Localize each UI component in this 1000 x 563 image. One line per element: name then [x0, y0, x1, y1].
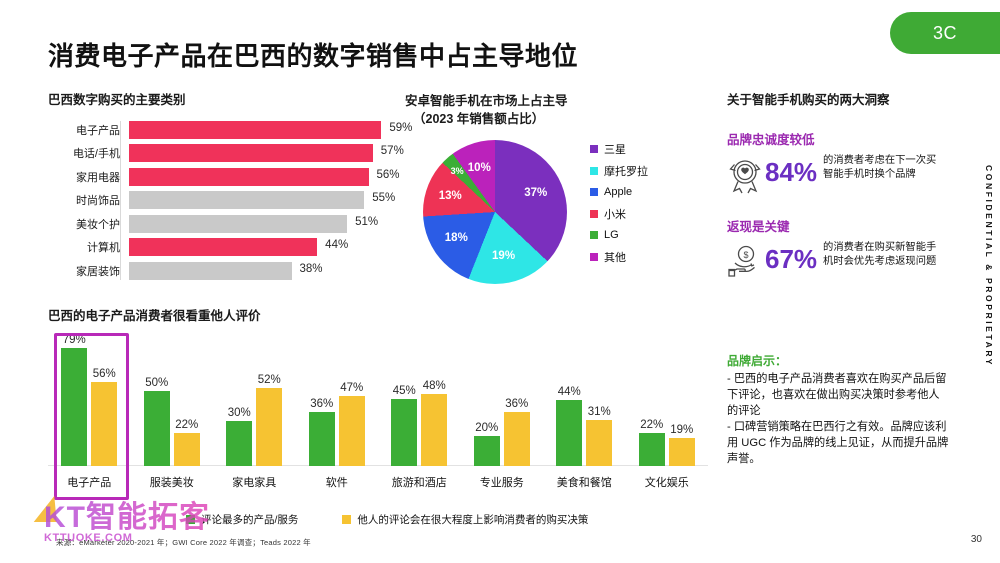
cashback-hand-coin-icon: $ [727, 241, 765, 283]
bar: 44% [556, 400, 582, 466]
insight-cashback: 返现是关键 $ 67% 的消费者在购买新智能手机时会优先考虑返现问题 [727, 216, 942, 283]
table-row: 计算机44% [48, 238, 398, 256]
bar-value-label: 51% [355, 216, 378, 228]
legend-swatch [590, 167, 598, 175]
bottom-chart-legend: 评论最多的产品/服务他人的评论会在很大程度上影响消费者的购买决策 [186, 512, 588, 527]
bar-category-label: 电话/手机 [48, 145, 129, 161]
bar-category-label: 计算机 [48, 239, 129, 255]
bar-group-bars: 20%36% [461, 339, 544, 466]
bar: 22% [174, 433, 200, 466]
bar-value-label: 55% [372, 192, 395, 204]
bar-category-label: 时尚饰品 [48, 192, 129, 208]
table-row: 美妆个护51% [48, 215, 398, 233]
bar-group: 20%36%专业服务 [461, 339, 544, 494]
bar: 45% [391, 399, 417, 466]
bar-value-label: 50% [145, 377, 168, 391]
bar-category-label: 专业服务 [461, 474, 544, 490]
bar-value-label: 22% [175, 419, 198, 433]
legend-item: 评论最多的产品/服务 [186, 512, 298, 527]
pie-slice-label: 19% [492, 250, 515, 262]
brand-implications: 品牌启示： - 巴西的电子产品消费者喜欢在购买产品后留下评论，也喜欢在做出购买决… [727, 352, 949, 467]
bar-group: 36%47%软件 [296, 339, 379, 494]
bar-track: 55% [129, 191, 398, 209]
bar-group-bars: 44%31% [543, 339, 626, 466]
bottom-chart-plot: 79%56%电子产品50%22%服装美妆30%52%家电家具36%47%软件45… [48, 339, 708, 494]
bar-category-label: 家用电器 [48, 169, 129, 185]
legend-item: 其他 [590, 246, 648, 268]
bar-group: 45%48%旅游和酒店 [378, 339, 461, 494]
bar: 36% [504, 412, 530, 466]
pie-slice-label: 37% [524, 187, 547, 199]
bar-value-label: 22% [640, 419, 663, 433]
pie-legend: 三星摩托罗拉Apple小米LG其他 [590, 138, 648, 267]
bar-value-label: 30% [228, 407, 251, 421]
legend-label: Apple [604, 186, 632, 198]
left-chart-plot: 电子产品59%电话/手机57%家用电器56%时尚饰品55%美妆个护51%计算机4… [48, 121, 398, 280]
bar-fill [129, 262, 292, 280]
bar-group: 44%31%美食和餐馆 [543, 339, 626, 494]
svg-text:$: $ [743, 250, 748, 260]
legend-swatch [590, 210, 598, 218]
bar-category-label: 软件 [296, 474, 379, 490]
insight-percent: 84% [765, 154, 817, 185]
legend-label: 他人的评论会在很大程度上影响消费者的购买决策 [357, 512, 588, 527]
bar-group-bars: 22%19% [626, 339, 709, 466]
legend-label: LG [604, 229, 619, 241]
legend-swatch [342, 515, 351, 524]
bar-category-label: 旅游和酒店 [378, 474, 461, 490]
page-number: 30 [971, 534, 982, 545]
bar: 48% [421, 394, 447, 466]
bar: 19% [669, 438, 695, 466]
bar-group: 50%22%服装美妆 [131, 339, 214, 494]
table-row: 电子产品59% [48, 121, 398, 139]
pie-disc [423, 140, 567, 284]
table-row: 电话/手机57% [48, 144, 398, 162]
slide: 3C 消费电子产品在巴西的数字销售中占主导地位 巴西数字购买的主要类别 电子产品… [0, 0, 1000, 563]
insights-title: 关于智能手机购买的两大洞察 [727, 92, 942, 109]
bar-value-label: 20% [475, 422, 498, 436]
bar: 22% [639, 433, 665, 466]
insight-text: 的消费者在购买新智能手机时会优先考虑返现问题 [823, 241, 942, 269]
page-title: 消费电子产品在巴西的数字销售中占主导地位 [48, 36, 708, 73]
legend-item: 小米 [590, 203, 648, 225]
bar-fill [129, 238, 317, 256]
bar-group-bars: 45%48% [378, 339, 461, 466]
bar-value-label: 38% [300, 263, 323, 275]
bar-value-label: 31% [588, 406, 611, 420]
bar-track: 44% [129, 238, 398, 256]
bar: 31% [586, 420, 612, 466]
bar-value-label: 44% [558, 386, 581, 400]
legend-item: 摩托罗拉 [590, 160, 648, 182]
confidential-notice: CONFIDENTIAL & PROPRIETARY [984, 165, 994, 367]
bar-group-bars: 30%52% [213, 339, 296, 466]
pie-plot: 37%19%18%13%3%10% 三星摩托罗拉Apple小米LG其他 [405, 138, 705, 288]
bar-group: 22%19%文化娱乐 [626, 339, 709, 494]
pie-slice-label: 10% [468, 162, 491, 174]
badge-label: 3C [933, 23, 957, 44]
left-chart-title: 巴西数字购买的主要类别 [48, 92, 398, 109]
legend-swatch [590, 145, 598, 153]
bar: 36% [309, 412, 335, 466]
legend-swatch [186, 515, 195, 524]
bottom-chart-title: 巴西的电子产品消费者很看重他人评价 [48, 308, 708, 325]
bar: 20% [474, 436, 500, 466]
insight-percent: 67% [765, 241, 817, 272]
bar-fill [129, 191, 364, 209]
legend-label: 评论最多的产品/服务 [201, 512, 298, 527]
insight-heading: 返现是关键 [727, 216, 942, 235]
bar-track: 51% [129, 215, 398, 233]
category-badge: 3C [890, 12, 1000, 54]
insight-brand-loyalty: 品牌忠诚度较低 84% 的消费者考虑在下一次买智能手机时换个品牌 [727, 129, 942, 200]
bar-value-label: 57% [381, 145, 404, 157]
highlight-box [54, 333, 129, 500]
bar-fill [129, 215, 347, 233]
table-row: 家用电器56% [48, 168, 398, 186]
bar-value-label: 47% [340, 382, 363, 396]
bar-fill [129, 168, 369, 186]
pie-slice-label: 3% [451, 166, 464, 176]
bar-value-label: 36% [310, 398, 333, 412]
bar-track: 38% [129, 262, 398, 280]
bar: 47% [339, 396, 365, 466]
bar-track: 56% [129, 168, 398, 186]
bar-value-label: 45% [393, 385, 416, 399]
pie-slice-label: 13% [439, 190, 462, 202]
table-row: 家居装饰38% [48, 262, 398, 280]
legend-label: 其他 [604, 249, 626, 265]
bar-value-label: 19% [670, 424, 693, 438]
bar-track: 59% [129, 121, 398, 139]
bar-group-bars: 50%22% [131, 339, 214, 466]
legend-item: Apple [590, 181, 648, 203]
bar-value-label: 52% [258, 374, 281, 388]
insight-heading: 品牌忠诚度较低 [727, 129, 942, 148]
left-chart-axis [120, 121, 121, 280]
source-note: 来源：eMarketer 2020-2021 年；GWI Core 2022 年… [56, 537, 311, 548]
bar: 30% [226, 421, 252, 466]
insights-section: 关于智能手机购买的两大洞察 品牌忠诚度较低 84% 的消费者考虑在下 [727, 92, 942, 299]
legend-label: 摩托罗拉 [604, 163, 648, 179]
bar-category-label: 文化娱乐 [626, 474, 709, 490]
legend-swatch [590, 231, 598, 239]
bar-fill [129, 121, 381, 139]
bar-category-label: 美妆个护 [48, 216, 129, 232]
bar-value-label: 44% [325, 239, 348, 251]
left-bar-chart: 巴西数字购买的主要类别 电子产品59%电话/手机57%家用电器56%时尚饰品55… [48, 92, 398, 285]
legend-swatch [590, 188, 598, 196]
bar-group: 30%52%家电家具 [213, 339, 296, 494]
pie-chart-section: 安卓智能手机在市场上占主导 （2023 年销售额占比） 37%19%18%13%… [405, 92, 705, 288]
bar-category-label: 美食和餐馆 [543, 474, 626, 490]
bottom-bar-chart: 巴西的电子产品消费者很看重他人评价 79%56%电子产品50%22%服装美妆30… [48, 308, 708, 494]
bar-track: 57% [129, 144, 398, 162]
bar-value-label: 56% [377, 169, 400, 181]
legend-item: 他人的评论会在很大程度上影响消费者的购买决策 [342, 512, 588, 527]
legend-item: 三星 [590, 138, 648, 160]
award-ribbon-icon [727, 154, 765, 200]
pie-chart-title: 安卓智能手机在市场上占主导 （2023 年销售额占比） [405, 92, 705, 128]
pie-slice-label: 18% [445, 232, 468, 244]
legend-label: 三星 [604, 141, 626, 157]
table-row: 时尚饰品55% [48, 191, 398, 209]
bar-value-label: 36% [505, 398, 528, 412]
bar-category-label: 服装美妆 [131, 474, 214, 490]
bar-group-bars: 36%47% [296, 339, 379, 466]
legend-swatch [590, 253, 598, 261]
legend-label: 小米 [604, 206, 626, 222]
implications-text: - 巴西的电子产品消费者喜欢在购买产品后留下评论，也喜欢在做出购买决策时参考他人… [727, 371, 949, 467]
bar: 50% [144, 391, 170, 466]
bar: 52% [256, 388, 282, 466]
bar-value-label: 48% [423, 380, 446, 394]
bar-fill [129, 144, 373, 162]
implications-heading: 品牌启示： [727, 352, 949, 369]
watermark-mark-icon [34, 496, 62, 522]
bar-category-label: 电子产品 [48, 122, 129, 138]
bar-category-label: 家电家具 [213, 474, 296, 490]
bar-category-label: 家居装饰 [48, 263, 129, 279]
legend-item: LG [590, 224, 648, 246]
insight-text: 的消费者考虑在下一次买智能手机时换个品牌 [823, 154, 942, 182]
